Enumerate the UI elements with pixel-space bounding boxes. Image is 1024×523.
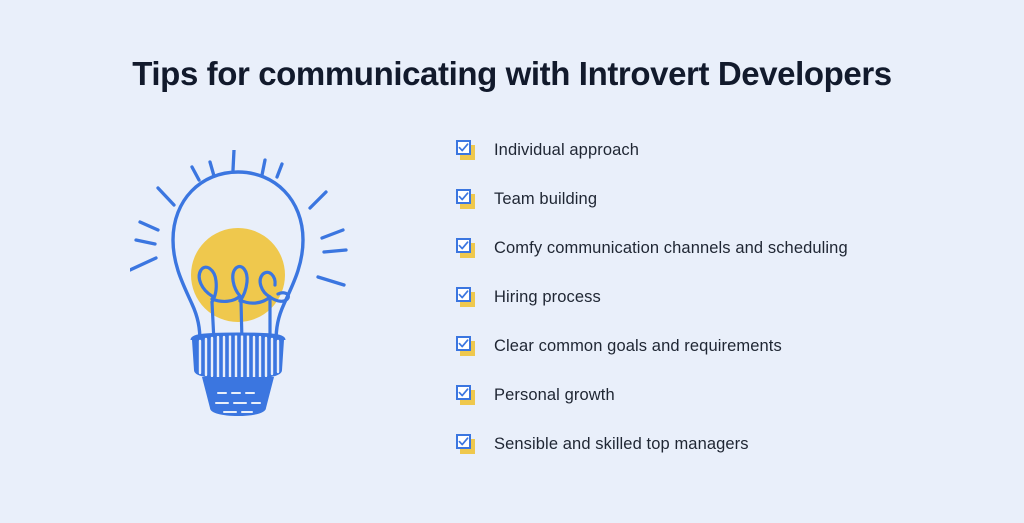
bulb-contact: [202, 377, 274, 416]
list-item-label: Team building: [494, 191, 597, 208]
list-item[interactable]: Personal growth: [456, 381, 996, 409]
list-item[interactable]: Sensible and skilled top managers: [456, 430, 996, 458]
checkbox-checked-icon[interactable]: [456, 385, 477, 406]
checkbox-checked-icon[interactable]: [456, 140, 477, 161]
list-item-label: Personal growth: [494, 387, 615, 404]
check-icon: [456, 434, 471, 449]
tips-list: Individual approach Team building Comfy …: [456, 136, 996, 458]
list-item[interactable]: Comfy communication channels and schedul…: [456, 234, 996, 262]
check-icon: [456, 336, 471, 351]
checkbox-checked-icon[interactable]: [456, 336, 477, 357]
check-icon: [456, 189, 471, 204]
lightbulb-illustration: [130, 150, 380, 430]
list-item-label: Sensible and skilled top managers: [494, 436, 749, 453]
check-icon: [456, 140, 471, 155]
list-item-label: Clear common goals and requirements: [494, 338, 782, 355]
list-item[interactable]: Hiring process: [456, 283, 996, 311]
bulb-screw-base: [192, 334, 284, 379]
list-item[interactable]: Clear common goals and requirements: [456, 332, 996, 360]
list-item-label: Individual approach: [494, 142, 639, 159]
check-icon: [456, 385, 471, 400]
checkbox-checked-icon[interactable]: [456, 238, 477, 259]
list-item[interactable]: Team building: [456, 185, 996, 213]
list-item-label: Hiring process: [494, 289, 601, 306]
page-title: Tips for communicating with Introvert De…: [0, 55, 1024, 93]
check-icon: [456, 238, 471, 253]
checkbox-checked-icon[interactable]: [456, 189, 477, 210]
checkbox-checked-icon[interactable]: [456, 287, 477, 308]
list-item-label: Comfy communication channels and schedul…: [494, 240, 848, 257]
slide-canvas: Tips for communicating with Introvert De…: [0, 0, 1024, 523]
list-item[interactable]: Individual approach: [456, 136, 996, 164]
checkbox-checked-icon[interactable]: [456, 434, 477, 455]
check-icon: [456, 287, 471, 302]
